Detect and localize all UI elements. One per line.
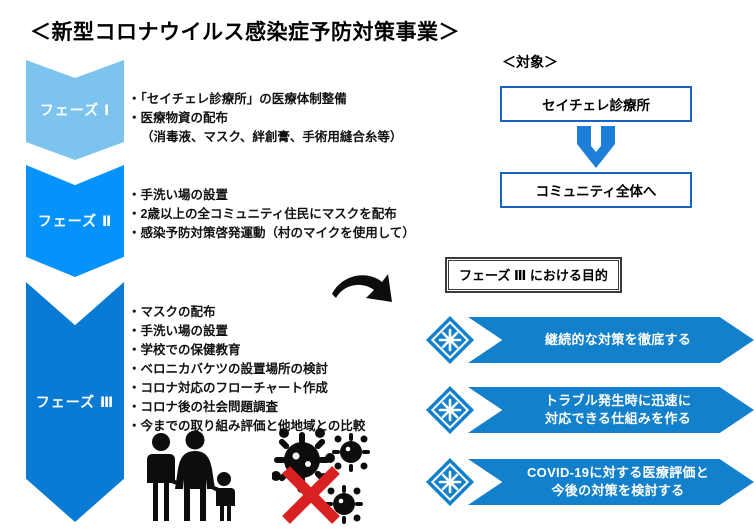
goal-banner-3: COVID-19に対する医療評価と 今後の対策を検討する xyxy=(424,452,754,512)
phase-1-item-1: ・「セイチェレ診療所」の医療体制整備 xyxy=(128,90,402,109)
virus-blocked-pictogram xyxy=(272,428,374,526)
red-cross-mark xyxy=(286,470,336,520)
phase-chevron-2: フェーズ Ⅱ xyxy=(26,165,124,277)
taisho-box-community: コミュニティ全体へ xyxy=(500,172,692,208)
phase-1-item-3: （消毒液、マスク、絆創膏、手術用縫合糸等） xyxy=(128,128,402,147)
goal-text-1: 継続的な対策を徹底する xyxy=(531,331,691,349)
goal-arrow-3: COVID-19に対する医療評価と 今後の対策を検討する xyxy=(468,459,754,505)
phase-2-item-3: ・感染予防対策啓発運動（村のマイクを使用して） xyxy=(128,224,415,243)
family-pictogram xyxy=(140,428,240,526)
asterisk-diamond-icon xyxy=(424,384,476,436)
phase-3-item-2: ・手洗い場の設置 xyxy=(128,322,365,341)
phase-2-items: ・手洗い場の設置 ・2歳以上の全コミュニティ住民にマスクを配布 ・感染予防対策啓… xyxy=(128,186,415,243)
goal-banner-1: 継続的な対策を徹底する xyxy=(424,310,754,370)
taisho-heading: ＜対象＞ xyxy=(502,52,558,72)
goal-arrow-1: 継続的な対策を徹底する xyxy=(468,317,754,363)
goal-1-line-1: 継続的な対策を徹底する xyxy=(545,331,691,349)
down-arrow-icon xyxy=(573,126,619,168)
goal-3-line-2: 今後の対策を検討する xyxy=(527,482,709,500)
phase-3-item-6: ・コロナ後の社会問題調査 xyxy=(128,398,365,417)
asterisk-diamond-icon xyxy=(424,456,476,508)
phase-label-2: フェーズ Ⅱ xyxy=(38,211,112,231)
taisho-box-community-label: コミュニティ全体へ xyxy=(536,180,657,200)
taisho-box-clinic-label: セイチェレ診療所 xyxy=(542,94,650,114)
phase-chevron-3: フェーズ Ⅲ xyxy=(26,282,124,522)
goal-2-line-1: トラブル発生時に迅速に xyxy=(545,392,691,410)
phase-2-item-2: ・2歳以上の全コミュニティ住民にマスクを配布 xyxy=(128,205,415,224)
phase-3-item-3: ・学校での保健教育 xyxy=(128,341,365,360)
purpose-caption: フェーズ Ⅲ における目的 xyxy=(448,260,619,290)
phase-3-item-5: ・コロナ対応のフローチャート作成 xyxy=(128,379,365,398)
goal-text-3: COVID-19に対する医療評価と 今後の対策を検討する xyxy=(513,464,709,500)
phase-3-items: ・マスクの配布 ・手洗い場の設置 ・学校での保健教育 ・ベロニカバケツの設置場所… xyxy=(128,303,365,436)
page-title: ＜新型コロナウイルス感染症予防対策事業＞ xyxy=(30,16,460,46)
curved-arrow-icon xyxy=(330,268,406,320)
goal-2-line-2: 対応できる仕組みを作る xyxy=(545,410,691,428)
goal-banner-2: トラブル発生時に迅速に 対応できる仕組みを作る xyxy=(424,380,754,440)
phase-label-1: フェーズ Ⅰ xyxy=(40,100,110,120)
asterisk-diamond-icon xyxy=(424,314,476,366)
phase-chevron-1: フェーズ Ⅰ xyxy=(26,60,124,160)
goal-3-line-1: COVID-19に対する医療評価と xyxy=(527,464,709,482)
goal-text-2: トラブル発生時に迅速に 対応できる仕組みを作る xyxy=(531,392,691,428)
phase-2-item-1: ・手洗い場の設置 xyxy=(128,186,415,205)
phase-3-item-4: ・ベロニカバケツの設置場所の検討 xyxy=(128,360,365,379)
taisho-box-clinic: セイチェレ診療所 xyxy=(500,86,692,122)
goal-arrow-2: トラブル発生時に迅速に 対応できる仕組みを作る xyxy=(468,387,754,433)
phase-1-item-2: ・医療物資の配布 xyxy=(128,109,402,128)
phase-label-3: フェーズ Ⅲ xyxy=(36,392,114,412)
phase-1-items: ・「セイチェレ診療所」の医療体制整備 ・医療物資の配布 （消毒液、マスク、絆創膏… xyxy=(128,90,402,147)
